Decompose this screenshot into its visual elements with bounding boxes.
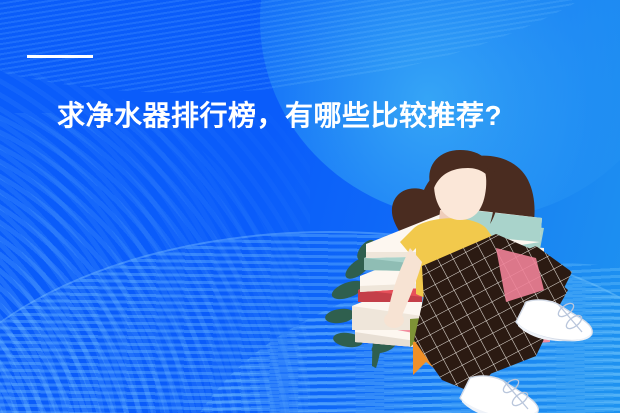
hero-illustration: [300, 150, 620, 413]
page-title: 求净水器排行榜，有哪些比较推荐?: [57, 101, 502, 132]
promo-banner: 求净水器排行榜，有哪些比较推荐?: [0, 0, 620, 413]
shoe-lower-icon: [460, 376, 538, 413]
accent-rule: [27, 55, 93, 58]
